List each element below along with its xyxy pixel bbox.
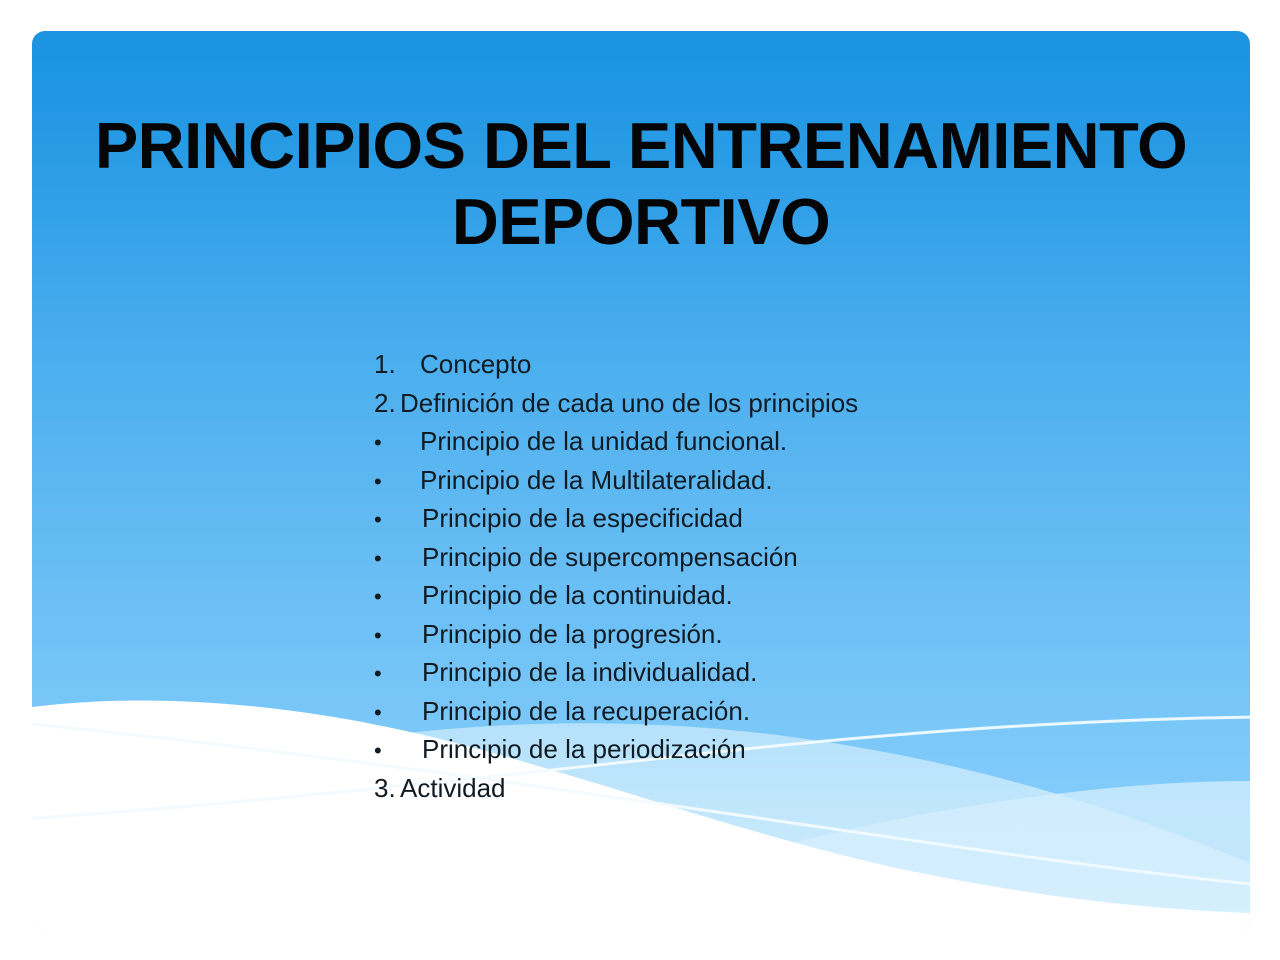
slide-body-list: 1.Concepto 2.Definición de cada uno de l…: [374, 345, 1114, 807]
list-marker: 2.: [374, 384, 400, 423]
bullet-icon: •: [374, 424, 420, 463]
list-item-label: Principio de la individualidad.: [420, 653, 757, 692]
list-item-label: Principio de la continuidad.: [420, 576, 733, 615]
list-item: •Principio de la especificidad: [374, 499, 1114, 538]
list-item-label: Principio de la periodización: [420, 730, 746, 769]
list-item-label: Principio de supercompensación: [420, 538, 798, 577]
bullet-icon: •: [374, 540, 420, 579]
list-item: •Principio de la progresión.: [374, 615, 1114, 654]
list-item: •Principio de la individualidad.: [374, 653, 1114, 692]
list-item-label: Definición de cada uno de los principios: [400, 384, 858, 423]
list-marker: 3.: [374, 769, 400, 808]
bullet-icon: •: [374, 578, 420, 617]
bullet-icon: •: [374, 463, 420, 502]
bullet-icon: •: [374, 501, 420, 540]
list-item: 2.Definición de cada uno de los principi…: [374, 384, 1114, 423]
bullet-icon: •: [374, 655, 420, 694]
list-item-label: Principio de la progresión.: [420, 615, 723, 654]
list-item: •Principio de la continuidad.: [374, 576, 1114, 615]
list-item: 3.Actividad: [374, 769, 1114, 808]
list-item-label: Principio de la Multilateralidad.: [420, 461, 773, 500]
list-item: •Principio de la Multilateralidad.: [374, 461, 1114, 500]
title-line-2: DEPORTIVO: [60, 184, 1222, 260]
title-line-1: PRINCIPIOS DEL ENTRENAMIENTO: [60, 108, 1222, 184]
list-item: •Principio de la periodización: [374, 730, 1114, 769]
list-item-label: Principio de la recuperación.: [420, 692, 750, 731]
bullet-icon: •: [374, 617, 420, 656]
list-item: 1.Concepto: [374, 345, 1114, 384]
slide-canvas: PRINCIPIOS DEL ENTRENAMIENTO DEPORTIVO 1…: [0, 0, 1280, 960]
slide-title: PRINCIPIOS DEL ENTRENAMIENTO DEPORTIVO: [32, 108, 1250, 260]
list-item: •Principio de supercompensación: [374, 538, 1114, 577]
bullet-icon: •: [374, 732, 420, 771]
list-item-label: Principio de la unidad funcional.: [420, 422, 787, 461]
list-item-label: Concepto: [420, 345, 531, 384]
list-item: •Principio de la recuperación.: [374, 692, 1114, 731]
list-item: •Principio de la unidad funcional.: [374, 422, 1114, 461]
list-marker: 1.: [374, 345, 420, 384]
bullet-icon: •: [374, 694, 420, 733]
list-item-label: Principio de la especificidad: [420, 499, 743, 538]
list-item-label: Actividad: [400, 769, 506, 808]
